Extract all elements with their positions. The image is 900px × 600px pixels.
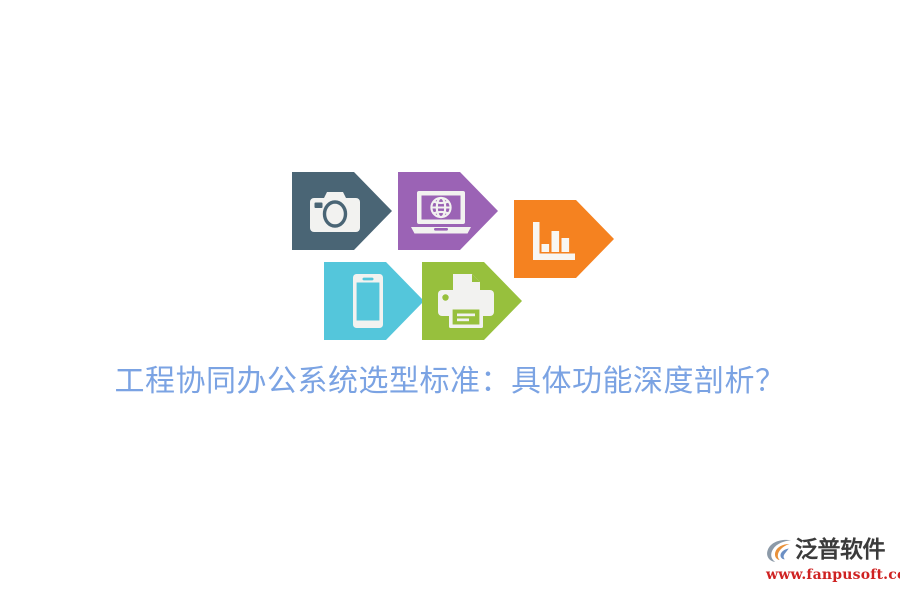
chevron-camera (292, 172, 392, 250)
laptop-globe-icon (411, 191, 471, 234)
brand-watermark[interactable]: 泛普软件 www.fanpusoft.com (764, 534, 892, 592)
chevron-phone (324, 262, 424, 340)
chevron-icon-cluster (292, 170, 612, 342)
mobile-phone-icon (353, 274, 383, 328)
brand-lockup: 泛普软件 (764, 534, 885, 566)
brand-name: 泛普软件 (795, 537, 885, 563)
chevron-laptop (398, 172, 498, 250)
page-canvas: 工程协同办公系统选型标准：具体功能深度剖析？ 泛普软件 www.fanpusof… (0, 0, 900, 600)
chevron-chart (514, 200, 614, 278)
page-title: 工程协同办公系统选型标准：具体功能深度剖析？ (0, 362, 900, 402)
brand-url[interactable]: www.fanpusoft.com (766, 566, 900, 584)
chevron-printer (422, 262, 522, 340)
fanpu-logo-icon (764, 535, 794, 565)
